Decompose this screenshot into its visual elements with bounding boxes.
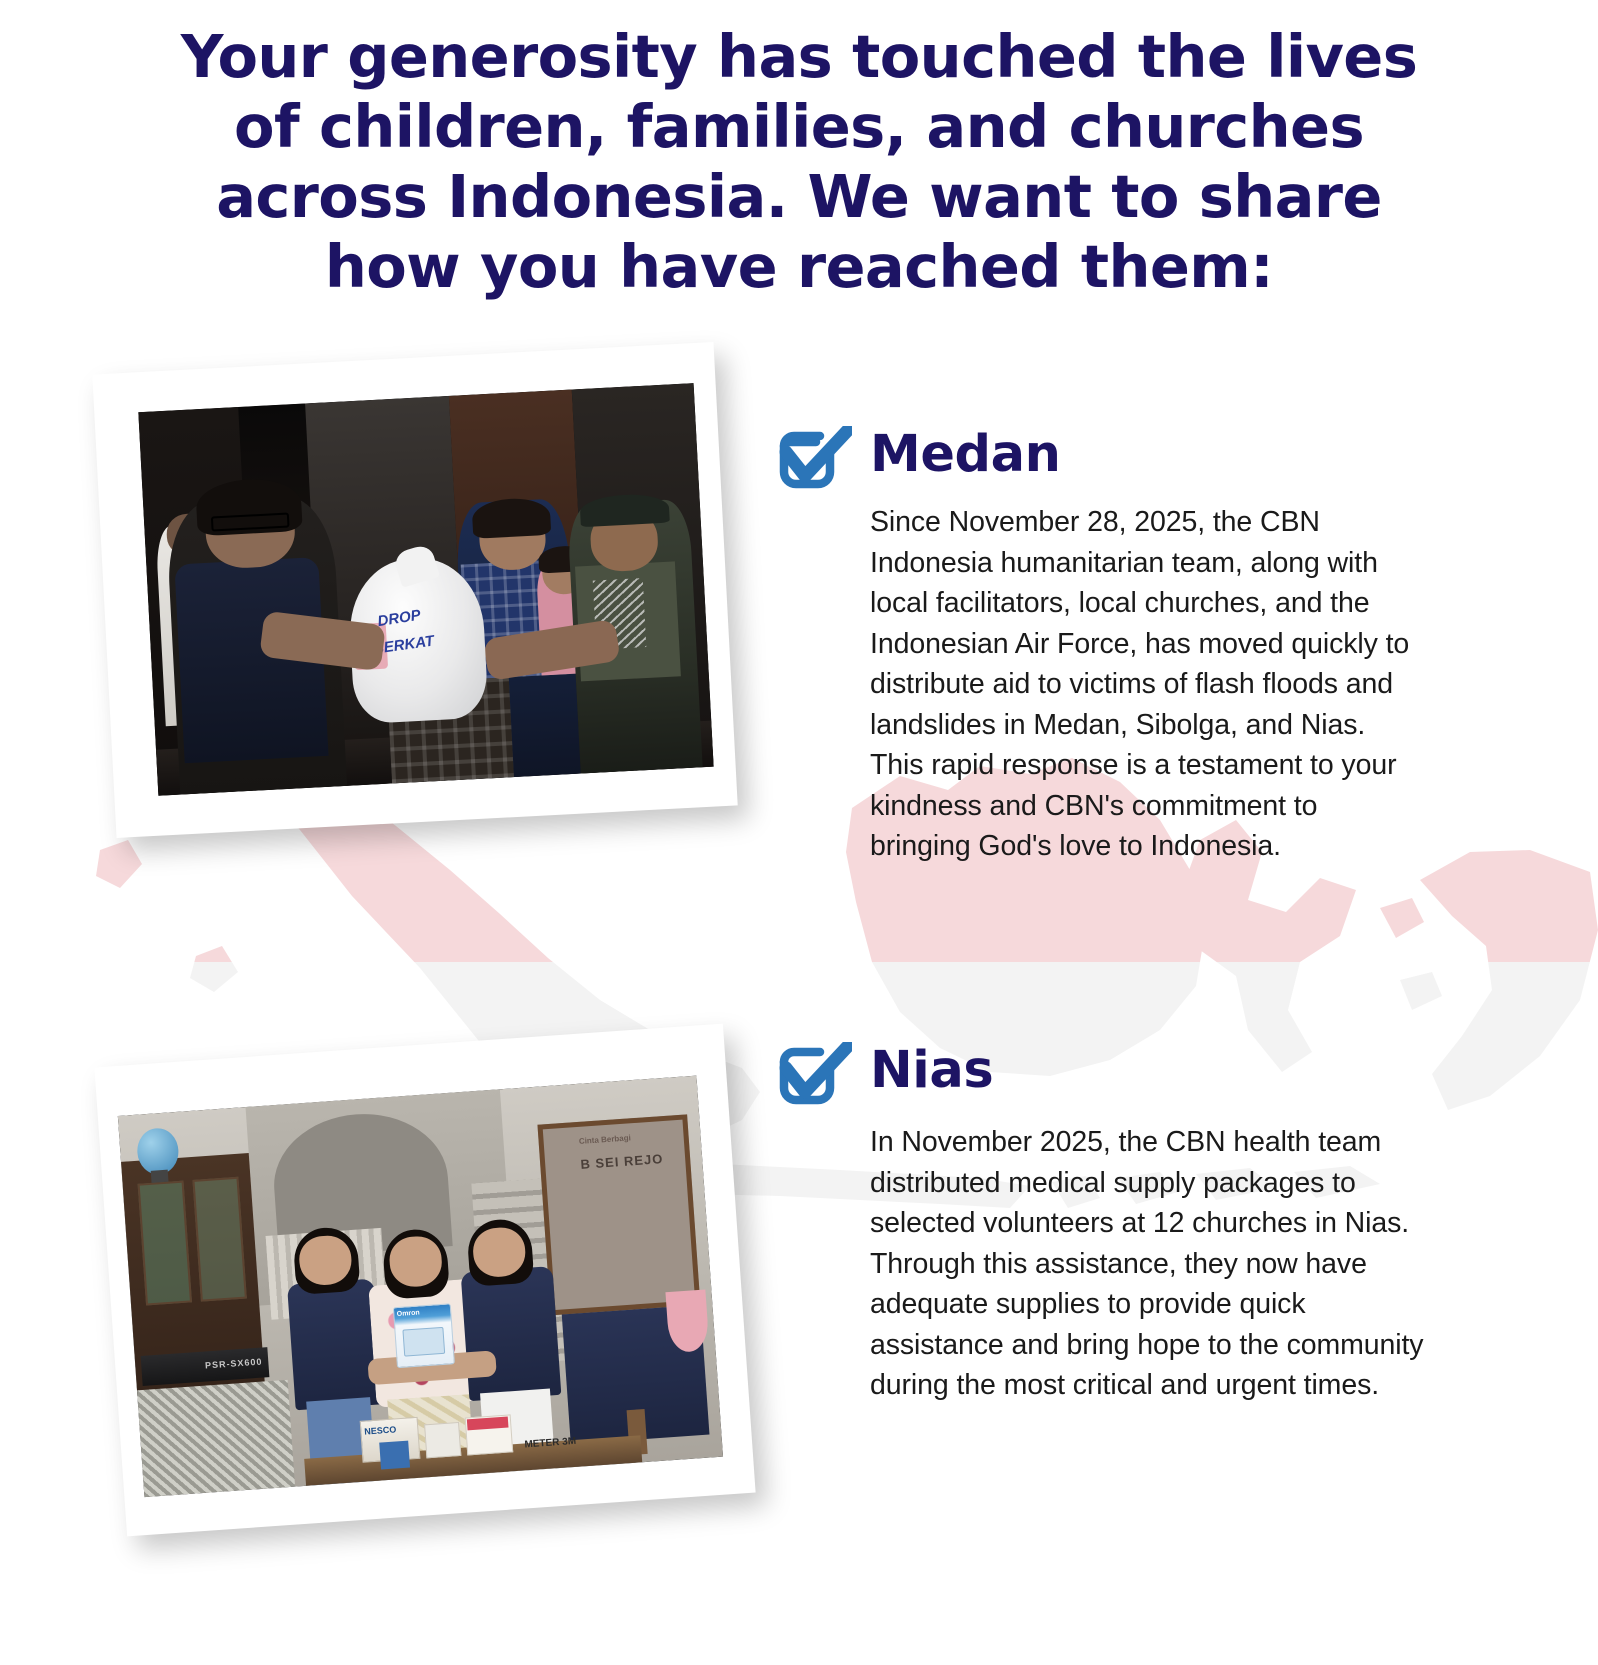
section-medan-body: Since November 28, 2025, the CBN Indones…: [870, 502, 1418, 867]
page-title: Your generosity has touched the lives of…: [0, 22, 1598, 302]
check-square-icon: [774, 426, 852, 496]
check-square-icon: [774, 1042, 852, 1112]
section-nias-title: Nias: [870, 1040, 993, 1102]
section-medan-title: Medan: [870, 424, 1061, 486]
section-medan: Medan Since November 28, 2025, the CBN I…: [774, 424, 1454, 867]
section-nias: Nias In November 2025, the CBN health te…: [774, 1040, 1454, 1406]
headline-line-3: across Indonesia. We want to share: [0, 162, 1598, 232]
section-medan-header: Medan: [774, 424, 1454, 496]
photo-nias-medical-supplies: PSR-SX600 Cinta Berbagi B SEI REJO Omron: [94, 1024, 755, 1537]
photo-medan-aid-distribution: DROP BERKAT: [92, 342, 737, 838]
photo-medan-image: DROP BERKAT: [138, 383, 713, 796]
headline-line-1: Your generosity has touched the lives: [0, 22, 1598, 92]
headline-line-4: how you have reached them:: [0, 232, 1598, 302]
headline-line-2: of children, families, and churches: [0, 92, 1598, 162]
section-nias-header: Nias: [774, 1040, 1454, 1112]
photo-nias-image: PSR-SX600 Cinta Berbagi B SEI REJO Omron: [118, 1076, 723, 1498]
section-nias-body: In November 2025, the CBN health team di…: [870, 1122, 1426, 1406]
newsletter-page: Your generosity has touched the lives of…: [0, 0, 1598, 1665]
